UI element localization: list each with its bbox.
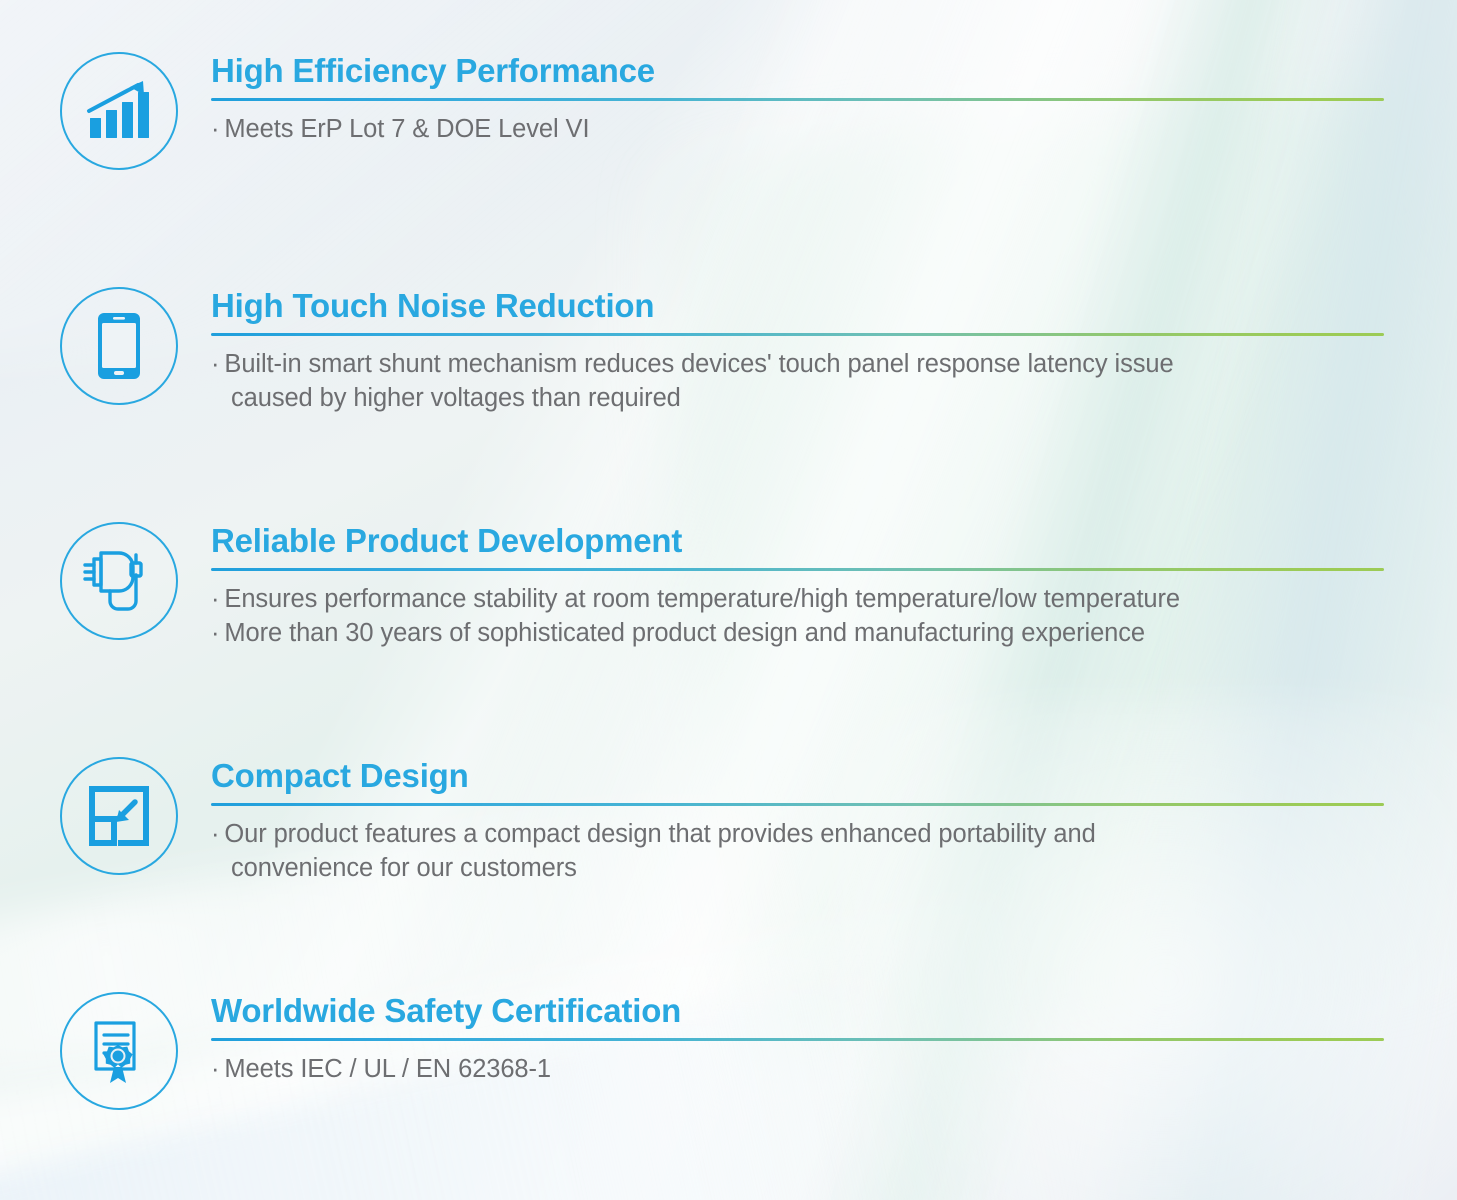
growth-bar-chart-icon bbox=[86, 80, 152, 142]
feature-bullet: ·Meets IEC / UL / EN 62368-1 bbox=[211, 1052, 1457, 1087]
feature-title: High Efficiency Performance bbox=[211, 54, 1457, 89]
icon-circle-frame bbox=[60, 522, 178, 640]
compact-resize-icon bbox=[88, 785, 150, 847]
certificate-award-icon bbox=[88, 1017, 150, 1085]
feature-icon-container bbox=[54, 287, 184, 405]
feature-bullet-list: ·Our product features a compact design t… bbox=[211, 817, 1457, 886]
bullet-text-line: Built-in smart shunt mechanism reduces d… bbox=[224, 350, 1173, 378]
feature-title: Worldwide Safety Certification bbox=[211, 994, 1457, 1029]
feature-text-block: Reliable Product Development ·Ensures pe… bbox=[211, 522, 1457, 651]
feature-divider-rule bbox=[211, 803, 1384, 806]
feature-item-reliable-product-development: Reliable Product Development ·Ensures pe… bbox=[0, 522, 1457, 651]
feature-bullet-list: ·Meets IEC / UL / EN 62368-1 bbox=[211, 1052, 1457, 1087]
feature-bullet: ·Meets ErP Lot 7 & DOE Level VI bbox=[211, 112, 1457, 147]
feature-icon-container bbox=[54, 522, 184, 640]
bullet-text-line: Meets IEC / UL / EN 62368-1 bbox=[224, 1055, 551, 1083]
feature-item-high-touch-noise-reduction: High Touch Noise Reduction ·Built-in sma… bbox=[0, 287, 1457, 416]
feature-title: Reliable Product Development bbox=[211, 524, 1457, 559]
icon-circle-frame bbox=[60, 992, 178, 1110]
feature-bullet-list: ·Ensures performance stability at room t… bbox=[211, 582, 1457, 651]
feature-title: High Touch Noise Reduction bbox=[211, 289, 1457, 324]
feature-icon-container bbox=[54, 992, 184, 1110]
feature-icon-container bbox=[54, 52, 184, 170]
power-adapter-icon bbox=[81, 545, 157, 617]
bullet-text-line: Our product features a compact design th… bbox=[224, 820, 1095, 848]
icon-circle-frame bbox=[60, 757, 178, 875]
feature-item-worldwide-safety-certification: Worldwide Safety Certification ·Meets IE… bbox=[0, 992, 1457, 1110]
bullet-marker: · bbox=[211, 350, 219, 378]
bullet-marker: · bbox=[211, 820, 219, 848]
bullet-text-line: Meets ErP Lot 7 & DOE Level VI bbox=[224, 115, 589, 143]
feature-bullet: ·More than 30 years of sophisticated pro… bbox=[211, 616, 1457, 651]
icon-circle-frame bbox=[60, 287, 178, 405]
feature-divider-rule bbox=[211, 98, 1384, 101]
bullet-text-line-continued: caused by higher voltages than required bbox=[211, 381, 1457, 416]
feature-bullet: ·Ensures performance stability at room t… bbox=[211, 582, 1457, 617]
feature-divider-rule bbox=[211, 568, 1384, 571]
icon-circle-frame bbox=[60, 52, 178, 170]
feature-list: High Efficiency Performance ·Meets ErP L… bbox=[0, 0, 1457, 1200]
feature-highlights-page: High Efficiency Performance ·Meets ErP L… bbox=[0, 0, 1457, 1200]
feature-title: Compact Design bbox=[211, 759, 1457, 794]
bullet-marker: · bbox=[211, 1055, 219, 1083]
feature-bullet-list: ·Built-in smart shunt mechanism reduces … bbox=[211, 347, 1457, 416]
smartphone-icon bbox=[97, 312, 141, 380]
feature-bullet: ·Built-in smart shunt mechanism reduces … bbox=[211, 347, 1457, 416]
feature-text-block: Compact Design ·Our product features a c… bbox=[211, 757, 1457, 886]
feature-icon-container bbox=[54, 757, 184, 875]
feature-bullet: ·Our product features a compact design t… bbox=[211, 817, 1457, 886]
feature-bullet-list: ·Meets ErP Lot 7 & DOE Level VI bbox=[211, 112, 1457, 147]
feature-text-block: High Efficiency Performance ·Meets ErP L… bbox=[211, 52, 1457, 146]
bullet-text-line: Ensures performance stability at room te… bbox=[224, 585, 1180, 613]
bullet-marker: · bbox=[211, 585, 219, 613]
bullet-text-line-continued: convenience for our customers bbox=[211, 851, 1457, 886]
bullet-marker: · bbox=[211, 115, 219, 143]
feature-item-high-efficiency-performance: High Efficiency Performance ·Meets ErP L… bbox=[0, 52, 1457, 170]
feature-divider-rule bbox=[211, 1038, 1384, 1041]
bullet-text-line: More than 30 years of sophisticated prod… bbox=[224, 619, 1145, 647]
feature-divider-rule bbox=[211, 333, 1384, 336]
feature-item-compact-design: Compact Design ·Our product features a c… bbox=[0, 757, 1457, 886]
feature-text-block: High Touch Noise Reduction ·Built-in sma… bbox=[211, 287, 1457, 416]
feature-text-block: Worldwide Safety Certification ·Meets IE… bbox=[211, 992, 1457, 1086]
bullet-marker: · bbox=[211, 619, 219, 647]
